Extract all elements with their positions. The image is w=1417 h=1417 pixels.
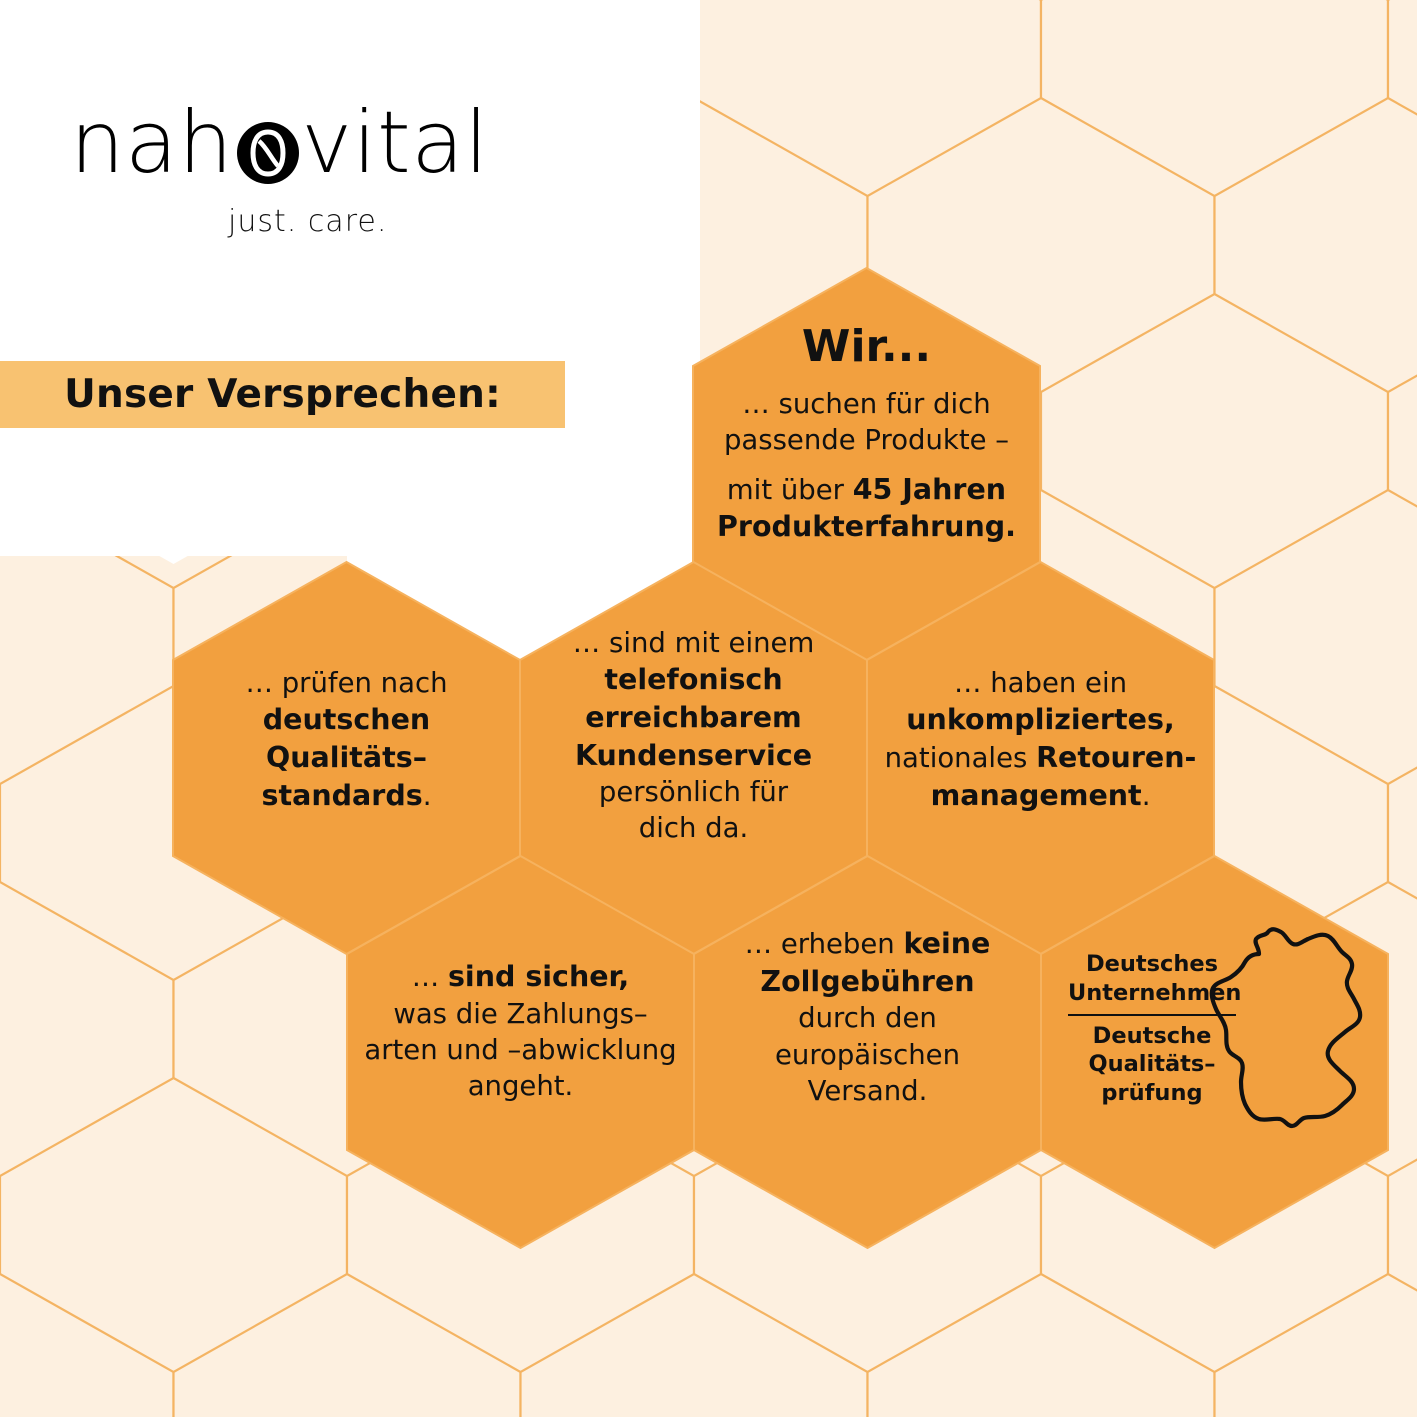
hex-body-quality-standards: … prüfen nach deutschen Qualitäts– stand… bbox=[173, 665, 520, 814]
hex-body-customer-service: … sind mit einem telefonisch erreichbare… bbox=[520, 625, 867, 847]
germany-map-outline-icon bbox=[1204, 920, 1390, 1155]
hex-content-returns: … haben ein unkompliziertes, nationales … bbox=[867, 665, 1214, 814]
promise-banner-label: Unser Versprechen: bbox=[64, 372, 501, 417]
hex-content-quality-standards: … prüfen nach deutschen Qualitäts– stand… bbox=[173, 665, 520, 814]
hex-content-no-customs: … erheben keine Zollgebühren durch den e… bbox=[694, 925, 1041, 1109]
logo-wordmark: nah vital bbox=[70, 100, 590, 186]
hex-content-customer-service: … sind mit einem telefonisch erreichbare… bbox=[520, 625, 867, 847]
hex-body-no-customs: … erheben keine Zollgebühren durch den e… bbox=[694, 925, 1041, 1109]
hex-content-experience: Wir... … suchen für dich passende Produk… bbox=[693, 318, 1040, 546]
promise-banner: Unser Versprechen: bbox=[0, 361, 565, 428]
brand-logo: nah vital just. care. bbox=[70, 100, 590, 239]
logo-tagline: just. care. bbox=[228, 204, 590, 239]
interlocking-rings-logo-mark-icon bbox=[237, 112, 299, 174]
logo-wordmark-left: nah bbox=[70, 100, 233, 186]
hex-content-payment-security: … sind sicher, was die Zahlungs– arten u… bbox=[337, 958, 704, 1105]
logo-wordmark-right: vital bbox=[301, 100, 489, 186]
infographic-canvas: nah vital just. care. Unser Versprechen:… bbox=[0, 0, 1417, 1417]
hex-body-experience: … suchen für dich passende Produkte – mi… bbox=[693, 386, 1040, 546]
hex-body-returns: … haben ein unkompliziertes, nationales … bbox=[867, 665, 1214, 814]
hex-title-experience: Wir... bbox=[693, 318, 1040, 376]
hex-body-payment-security: … sind sicher, was die Zahlungs– arten u… bbox=[337, 958, 704, 1105]
